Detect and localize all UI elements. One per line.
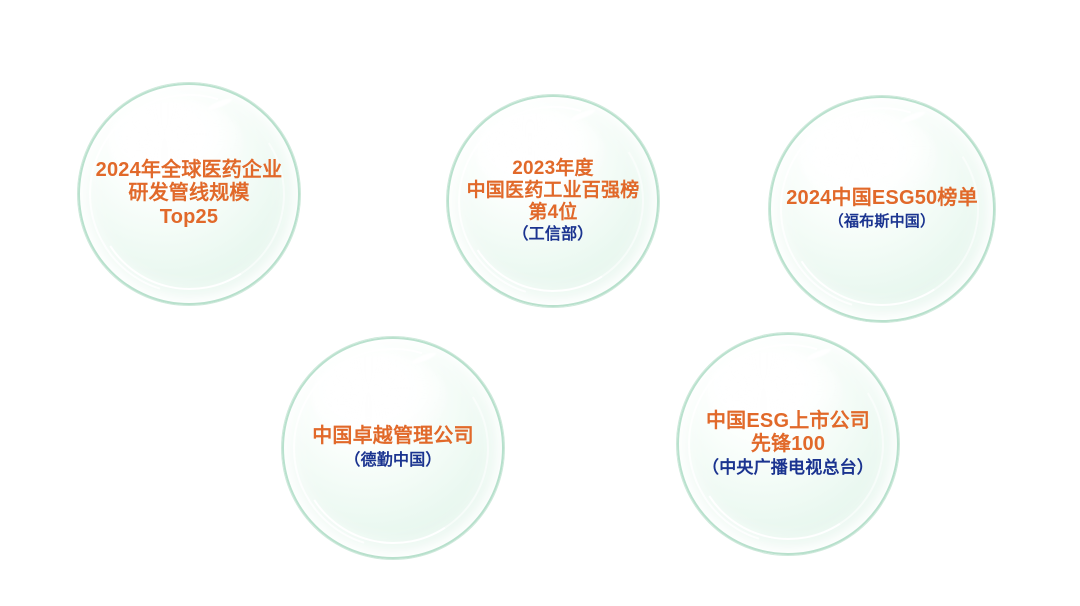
- award-label: 2023年度 中国医药工业百强榜 第4位 （工信部）: [467, 158, 640, 245]
- award-title-line: 2024中国ESG50榜单: [786, 187, 978, 210]
- award-title-line: 研发管线规模: [96, 182, 283, 205]
- award-title-line: 中国卓越管理公司: [312, 425, 474, 448]
- award-title-line: 2024年全球医药企业: [96, 159, 283, 182]
- award-title-line: 第4位: [467, 202, 640, 224]
- award-bubble-china-pharma-industry-top100-rank4[interactable]: 2023年度 中国医药工业百强榜 第4位 （工信部）: [447, 95, 659, 307]
- award-label: 中国卓越管理公司 （德勤中国）: [312, 425, 474, 471]
- award-issuer: （德勤中国）: [312, 452, 474, 471]
- award-label: 2024年全球医药企业 研发管线规模 Top25: [96, 159, 283, 229]
- award-bubble-china-esg50-list-2024[interactable]: 2024中国ESG50榜单 （福布斯中国）: [769, 96, 995, 322]
- award-label: 2024中国ESG50榜单 （福布斯中国）: [786, 187, 978, 231]
- award-bubble-china-esg-listed-pioneer-100[interactable]: 中国ESG上市公司 先锋100 （中央广播电视总台）: [677, 333, 899, 555]
- award-title-line: 2023年度: [467, 158, 640, 180]
- awards-bubbles-slide: 2024年全球医药企业 研发管线规模 Top25 2023年度 中国医药工业百强…: [0, 0, 1080, 606]
- award-title-line: 先锋100: [702, 433, 874, 456]
- award-bubble-global-pharma-rd-pipeline-top25[interactable]: 2024年全球医药企业 研发管线规模 Top25: [78, 83, 300, 305]
- award-title-line: 中国ESG上市公司: [702, 410, 874, 433]
- award-issuer: （工信部）: [467, 226, 640, 245]
- award-bubble-china-best-managed-companies[interactable]: 中国卓越管理公司 （德勤中国）: [282, 337, 504, 559]
- award-label: 中国ESG上市公司 先锋100 （中央广播电视总台）: [702, 410, 874, 478]
- award-issuer: （中央广播电视总台）: [702, 458, 874, 478]
- award-issuer: （福布斯中国）: [786, 213, 978, 230]
- award-title-line: 中国医药工业百强榜: [467, 180, 640, 202]
- award-title-line: Top25: [96, 206, 283, 229]
